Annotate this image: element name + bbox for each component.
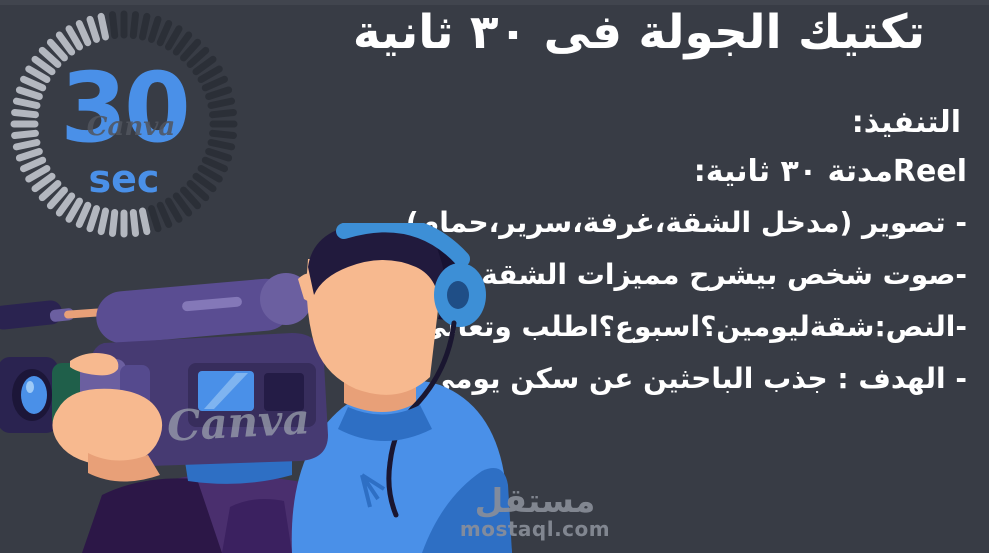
line-execution-heading: التنفيذ: xyxy=(852,108,961,138)
timer-tick xyxy=(24,79,43,88)
timer-tick xyxy=(16,101,37,105)
timer-tick xyxy=(205,160,224,169)
mostaql-url: mostaql.com xyxy=(430,517,640,541)
timer-tick xyxy=(15,133,36,135)
timer-tick xyxy=(213,113,234,115)
timer-tick xyxy=(160,205,169,224)
timer-tick xyxy=(15,113,36,115)
timer-tick xyxy=(152,19,158,39)
illus-trouser-knee xyxy=(222,499,292,553)
timer-tick xyxy=(211,143,232,147)
timer-tick xyxy=(209,90,229,96)
timer-tick xyxy=(209,152,229,158)
timer-tick xyxy=(113,15,115,36)
illus-lens-glint xyxy=(26,381,34,393)
timer-logo: 30 sec Canva xyxy=(8,8,240,240)
timer-tick xyxy=(133,15,135,36)
page-title: تكتيك الجولة فى ٣٠ ثانية xyxy=(289,8,989,59)
slide-canvas: 30 sec Canva تكتيك الجولة فى ٣٠ ثانية ال… xyxy=(0,0,989,553)
timer-tick xyxy=(69,29,80,47)
timer-tick xyxy=(205,79,224,88)
timer-tick xyxy=(101,16,105,37)
timer-tick xyxy=(19,152,39,158)
illus-hand xyxy=(52,389,162,466)
mostaql-watermark: مستقل mostaql.com xyxy=(430,483,640,541)
timer-tick xyxy=(201,169,219,180)
illus-lens-glass xyxy=(21,376,47,414)
illus-face xyxy=(307,259,444,395)
timer-tick xyxy=(169,29,180,47)
illus-headphone-cup-inner xyxy=(447,281,469,309)
line-reel-duration: Reelمدتة ٣٠ ثانية: xyxy=(694,157,967,187)
timer-tick xyxy=(143,16,147,37)
timer-tick xyxy=(69,201,80,219)
line-voiceover: -صوت شخص بيشرح مميزات الشقة xyxy=(481,261,967,289)
timer-tick xyxy=(16,143,37,147)
timer-tick xyxy=(213,133,234,135)
illus-camera-button-panel xyxy=(264,373,304,411)
timer-tick xyxy=(19,90,39,96)
timer-tick xyxy=(201,69,219,80)
timer-tick xyxy=(29,169,47,180)
timer-tick xyxy=(79,205,88,224)
timer-tick xyxy=(29,69,47,80)
timer-tick xyxy=(169,201,180,219)
timer-tick xyxy=(211,101,232,105)
timer-tick xyxy=(160,24,169,43)
timer-tick xyxy=(79,24,88,43)
timer-tick xyxy=(90,19,96,39)
timer-tick xyxy=(24,160,43,169)
mostaql-arabic-logo: مستقل xyxy=(430,483,640,519)
timer-ring-icon xyxy=(8,8,240,240)
